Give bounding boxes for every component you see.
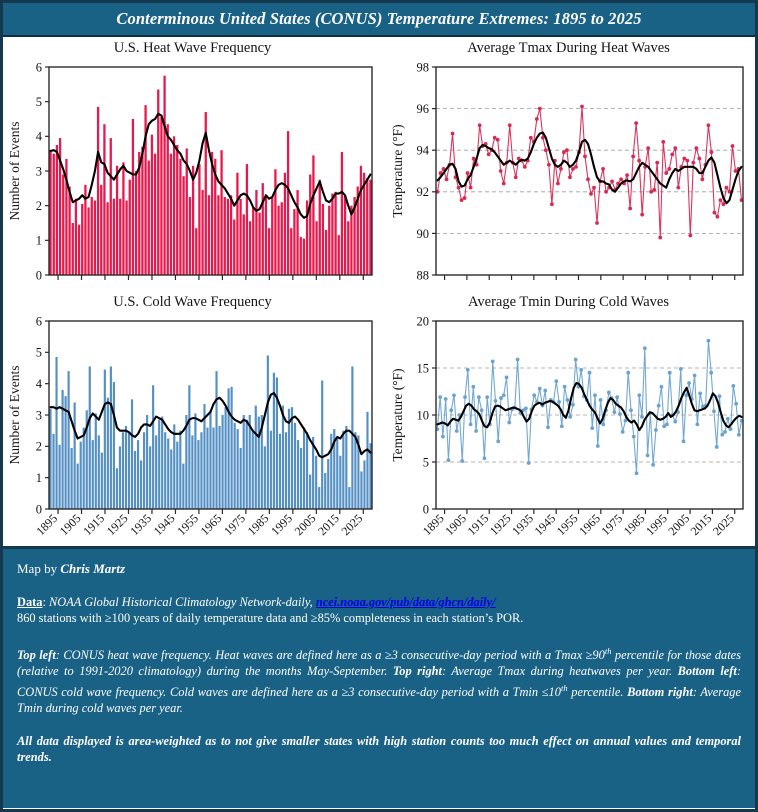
svg-text:4: 4: [36, 130, 43, 144]
data-source-link[interactable]: ncei.noaa.gov/pub/data/ghcn/daily/: [316, 595, 496, 609]
svg-text:Temperature (°F): Temperature (°F): [390, 124, 405, 217]
charts-area: U.S. Heat Wave Frequency 0123456Number o…: [3, 37, 755, 546]
svg-text:3: 3: [36, 164, 42, 178]
footer-panel: Map by Chris Martz Data: NOAA Global His…: [3, 546, 755, 808]
svg-text:2025: 2025: [710, 511, 737, 538]
svg-text:1975: 1975: [598, 511, 625, 538]
svg-text:1985: 1985: [245, 511, 272, 538]
method-segment: Top left: [17, 648, 56, 662]
svg-text:5: 5: [423, 455, 429, 469]
infographic-root: Conterminous United States (CONUS) Tempe…: [0, 0, 758, 812]
svg-text:1955: 1955: [174, 511, 201, 538]
svg-text:1975: 1975: [221, 511, 248, 538]
svg-text:0: 0: [36, 268, 42, 282]
svg-text:1915: 1915: [80, 511, 107, 538]
title-banner: Conterminous United States (CONUS) Tempe…: [3, 3, 755, 37]
svg-text:20: 20: [417, 314, 430, 328]
svg-text:1925: 1925: [104, 511, 131, 538]
svg-text:92: 92: [417, 185, 430, 199]
data-label: Data: [17, 595, 42, 609]
svg-text:2005: 2005: [665, 511, 692, 538]
svg-text:90: 90: [417, 227, 430, 241]
svg-text:1965: 1965: [576, 511, 603, 538]
chart-panel-tmin-cold-waves: Average Tmin During Cold Waves 05101520T…: [382, 293, 755, 565]
svg-text:0: 0: [423, 502, 429, 516]
chart-title: U.S. Cold Wave Frequency: [3, 293, 382, 313]
svg-text:4: 4: [36, 377, 43, 391]
svg-text:94: 94: [417, 144, 430, 158]
chart-panel-heat-wave-frequency: U.S. Heat Wave Frequency 0123456Number o…: [3, 39, 382, 293]
chart-panel-cold-wave-frequency: U.S. Cold Wave Frequency 0123456Number o…: [3, 293, 382, 565]
svg-text:6: 6: [36, 60, 42, 74]
svg-text:6: 6: [36, 314, 42, 328]
chart-svg-tmax-heat-waves: 889092949698Temperature (°F): [382, 59, 755, 293]
svg-text:3: 3: [36, 408, 42, 422]
svg-text:1905: 1905: [57, 511, 84, 538]
chart-row-top: U.S. Heat Wave Frequency 0123456Number o…: [3, 39, 755, 293]
svg-text:96: 96: [417, 102, 430, 116]
chart-title: Average Tmax During Heat Waves: [382, 39, 755, 59]
chart-svg-tmin-cold-waves: 05101520Temperature (°F)1895190519151925…: [382, 313, 755, 565]
svg-text:1: 1: [36, 471, 42, 485]
method-segment: : CONUS heat wave frequency. Heat waves …: [56, 648, 605, 662]
svg-text:1965: 1965: [198, 511, 225, 538]
chart-panel-tmax-heat-waves: Average Tmax During Heat Waves 889092949…: [382, 39, 755, 293]
data-detail: 860 stations with ≥100 years of daily te…: [17, 611, 741, 627]
svg-text:1995: 1995: [643, 511, 670, 538]
area-weighting-note: All data displayed is area-weighted as t…: [17, 733, 741, 766]
svg-text:1985: 1985: [621, 511, 648, 538]
svg-text:5: 5: [36, 346, 42, 360]
method-segment: Top right: [393, 664, 442, 678]
data-source-name: NOAA Global Historical Climatology Netwo…: [49, 595, 316, 609]
page-title: Conterminous United States (CONUS) Tempe…: [116, 9, 641, 29]
chart-svg-heat-wave-frequency: 0123456Number of Events: [3, 59, 382, 293]
svg-text:2005: 2005: [292, 511, 319, 538]
method-segment: Bottom right: [627, 685, 693, 699]
method-segment: th: [561, 683, 568, 693]
svg-text:2: 2: [36, 440, 42, 454]
svg-text:Temperature (°F): Temperature (°F): [390, 368, 405, 461]
chart-title: U.S. Heat Wave Frequency: [3, 39, 382, 59]
svg-text:10: 10: [417, 408, 430, 422]
svg-text:15: 15: [417, 361, 430, 375]
svg-text:1935: 1935: [127, 511, 154, 538]
svg-text:88: 88: [417, 268, 430, 282]
svg-text:2015: 2015: [315, 511, 342, 538]
svg-text:1955: 1955: [554, 511, 581, 538]
svg-text:5: 5: [36, 95, 42, 109]
method-segment: Bottom left: [678, 664, 737, 678]
svg-text:1945: 1945: [531, 511, 558, 538]
svg-text:1905: 1905: [442, 511, 469, 538]
svg-text:Number of Events: Number of Events: [7, 366, 22, 465]
method-segment: percentile.: [568, 685, 628, 699]
svg-text:2025: 2025: [339, 511, 366, 538]
methodology-text: Top left: CONUS heat wave frequency. Hea…: [17, 643, 741, 717]
svg-text:2: 2: [36, 199, 42, 213]
svg-text:2015: 2015: [688, 511, 715, 538]
svg-text:1935: 1935: [509, 511, 536, 538]
svg-text:0: 0: [36, 502, 42, 516]
svg-text:1: 1: [36, 234, 42, 248]
chart-title: Average Tmin During Cold Waves: [382, 293, 755, 313]
svg-text:1945: 1945: [151, 511, 178, 538]
svg-text:Number of Events: Number of Events: [7, 122, 22, 221]
data-source-block: Data: NOAA Global Historical Climatology…: [17, 595, 741, 627]
svg-text:98: 98: [417, 60, 430, 74]
svg-text:1915: 1915: [464, 511, 491, 538]
chart-svg-cold-wave-frequency: 0123456Number of Events18951905191519251…: [3, 313, 382, 565]
svg-text:1995: 1995: [268, 511, 295, 538]
svg-text:1925: 1925: [487, 511, 514, 538]
chart-row-bottom: U.S. Cold Wave Frequency 0123456Number o…: [3, 293, 755, 565]
method-segment: : Average Tmax during heatwaves per year…: [442, 664, 678, 678]
